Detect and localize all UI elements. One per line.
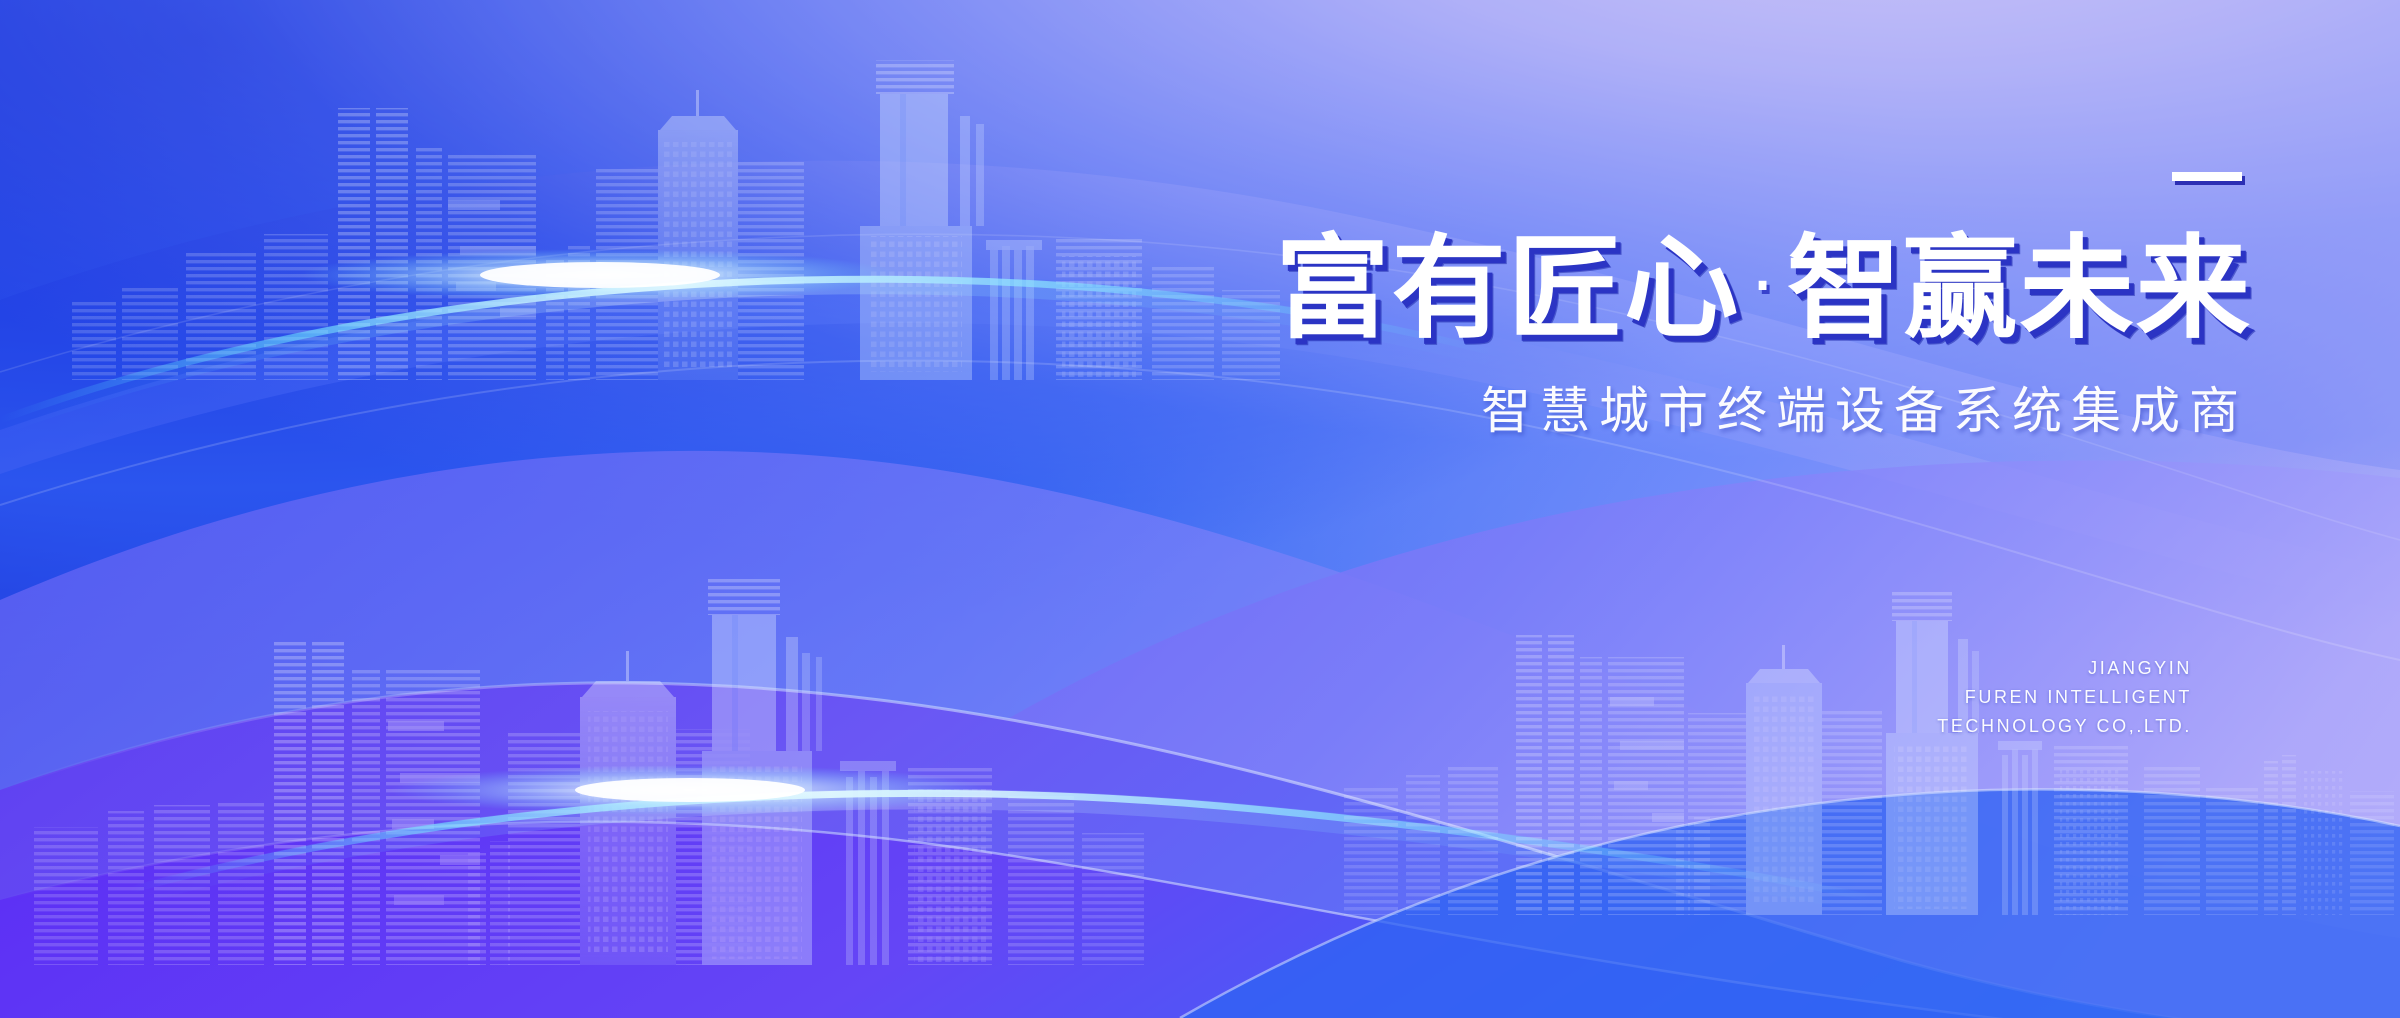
- banner-root: 富有匠心·智赢未来 智慧城市终端设备系统集成商 JIANGYIN FUREN I…: [0, 0, 2400, 1018]
- page-title: 富有匠心·智赢未来: [1048, 230, 2252, 349]
- headline-separator-dot: ·: [1740, 243, 1786, 329]
- headline-part-two: 智赢未来: [1787, 224, 2252, 354]
- headline-block: 富有匠心·智赢未来 智慧城市终端设备系统集成商: [1072, 172, 2252, 443]
- page-subtitle: 智慧城市终端设备系统集成商: [1072, 371, 2248, 443]
- company-name-block: JIANGYIN FUREN INTELLIGENT TECHNOLOGY CO…: [1937, 654, 2192, 741]
- company-line-legal: TECHNOLOGY CO,.LTD.: [1937, 712, 2192, 741]
- headline-part-one: 富有匠心: [1275, 224, 1740, 354]
- company-line-brand: FUREN INTELLIGENT: [1937, 683, 2192, 712]
- city-skyline-lower-left: [0, 565, 1170, 965]
- city-skyline-lower-right: [1330, 585, 2400, 915]
- company-line-city: JIANGYIN: [1937, 654, 2192, 683]
- decorative-rule-dash: [2172, 172, 2242, 181]
